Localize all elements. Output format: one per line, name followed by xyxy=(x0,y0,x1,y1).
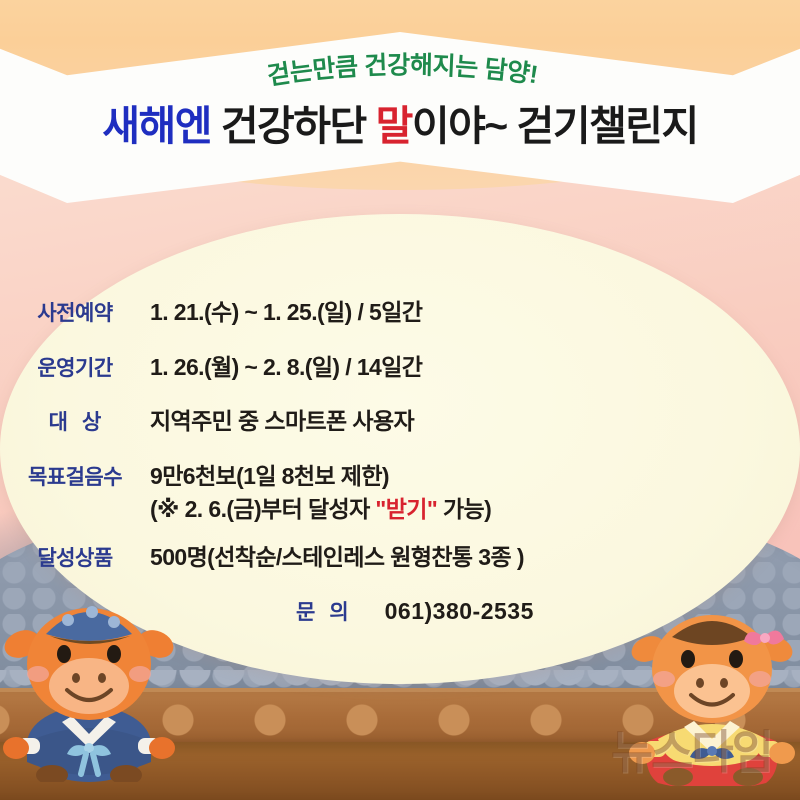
mascot-left-male-cow xyxy=(0,582,184,782)
goal-steps-line-1: 9만6천보(1일 8천보 제한) xyxy=(150,460,491,493)
info-row-prize: 달성상품 500명(선착순/스테인레스 원형찬통 3종 ) xyxy=(0,541,800,574)
event-info-block: 사전예약 1. 21.(수) ~ 1. 25.(일) / 5일간 운영기간 1.… xyxy=(0,296,800,626)
title-part-2: 건강하단 xyxy=(221,103,366,149)
info-label-period: 운영기간 xyxy=(0,351,150,382)
info-row-reservation: 사전예약 1. 21.(수) ~ 1. 25.(일) / 5일간 xyxy=(0,296,800,329)
info-value-goal-steps: 9만6천보(1일 8천보 제한) (※ 2. 6.(금)부터 달성자 "받기" … xyxy=(150,460,491,525)
info-row-goal-steps: 목표걸음수 9만6천보(1일 8천보 제한) (※ 2. 6.(금)부터 달성자… xyxy=(0,460,800,525)
info-value-period: 1. 26.(월) ~ 2. 8.(일) / 14일간 xyxy=(150,351,422,384)
info-label-target: 대상 xyxy=(0,405,150,436)
info-label-goal-steps: 목표걸음수 xyxy=(0,460,150,491)
contact-label: 문의 xyxy=(296,596,363,626)
info-value-prize: 500명(선착순/스테인레스 원형찬통 3종 ) xyxy=(150,541,524,574)
title-part-1: 새해엔 xyxy=(102,103,211,149)
info-row-period: 운영기간 1. 26.(월) ~ 2. 8.(일) / 14일간 xyxy=(0,351,800,384)
info-label-reservation: 사전예약 xyxy=(0,296,150,327)
info-row-target: 대상 지역주민 중 스마트폰 사용자 xyxy=(0,405,800,438)
goal-note-highlight: "받기" xyxy=(375,496,437,522)
goal-note-suffix: 가능) xyxy=(437,496,491,522)
poster-canvas: 걷는만큼 건강해지는 담양! 새해엔 건강하단 말이야~ 걷기챌린지 사전예약 … xyxy=(0,0,800,800)
info-label-prize: 달성상품 xyxy=(0,541,150,572)
goal-steps-line-2: (※ 2. 6.(금)부터 달성자 "받기" 가능) xyxy=(150,493,491,526)
title-part-4: 이야~ 걷기챌린지 xyxy=(412,103,698,149)
info-value-reservation: 1. 21.(수) ~ 1. 25.(일) / 5일간 xyxy=(150,296,422,329)
info-value-target: 지역주민 중 스마트폰 사용자 xyxy=(150,405,414,438)
goal-note-prefix: (※ 2. 6.(금)부터 달성자 xyxy=(150,496,375,522)
mascot-right-female-cow xyxy=(622,591,800,786)
contact-phone-number: 061)380-2535 xyxy=(385,598,534,625)
poster-main-title: 새해엔 건강하단 말이야~ 걷기챌린지 xyxy=(0,104,800,148)
title-part-3: 말 xyxy=(376,103,412,149)
